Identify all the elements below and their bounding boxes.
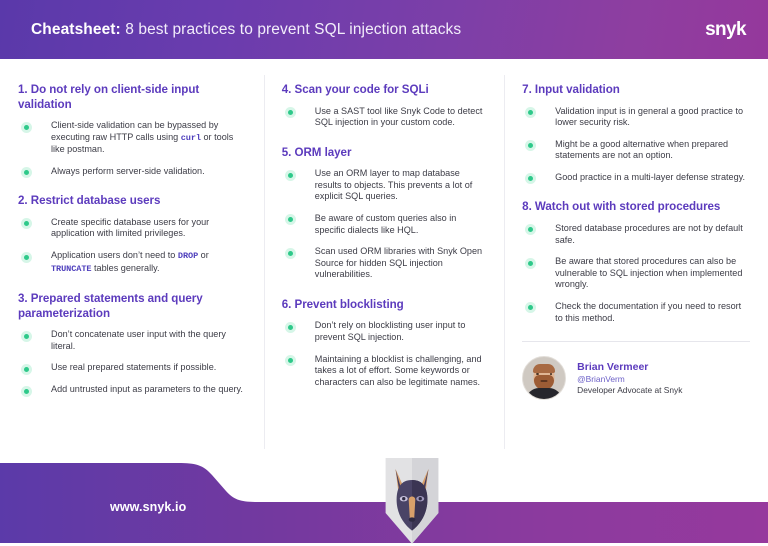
list-item: Don’t rely on blocklisting user input to… <box>282 320 488 343</box>
bullet-dot-icon <box>21 167 32 178</box>
page-title: Cheatsheet: 8 best practices to prevent … <box>31 21 461 39</box>
bullet-list: Use an ORM layer to map database results… <box>282 168 488 281</box>
list-item: Client-side validation can be bypassed b… <box>18 120 248 156</box>
bullet-text: Add untrusted input as parameters to the… <box>51 384 243 394</box>
bullet-dot-icon <box>285 170 296 181</box>
page-title-bold: Cheatsheet: <box>31 21 121 38</box>
list-item: Add untrusted input as parameters to the… <box>18 384 248 396</box>
bullet-list: Don’t rely on blocklisting user input to… <box>282 320 488 388</box>
bullet-text: Scan used ORM libraries with Snyk Open S… <box>315 246 482 279</box>
section-title: 3. Prepared statements and query paramet… <box>18 292 248 321</box>
bullet-text: Stored database procedures are not by de… <box>555 223 743 245</box>
section-3: 3. Prepared statements and query paramet… <box>18 292 248 395</box>
bullet-dot-icon <box>285 355 296 366</box>
author-name: Brian Vermeer <box>577 361 682 374</box>
author-handle[interactable]: @BrianVerm <box>577 374 682 385</box>
bullet-text: Might be a good alternative when prepare… <box>555 139 728 161</box>
bullet-dot-icon <box>525 140 536 151</box>
list-item: Might be a good alternative when prepare… <box>522 139 750 162</box>
list-item: Validation input is in general a good pr… <box>522 106 750 129</box>
author-block: Brian Vermeer @BrianVerm Developer Advoc… <box>522 341 750 400</box>
bullet-text: Don’t rely on blocklisting user input to… <box>315 320 466 342</box>
list-item: Be aware that stored procedures can also… <box>522 256 750 291</box>
section-title: 7. Input validation <box>522 83 750 98</box>
list-item: Check the documentation if you need to r… <box>522 301 750 324</box>
bullet-list: Use a SAST tool like Snyk Code to detect… <box>282 106 488 129</box>
section-title: 6. Prevent blocklisting <box>282 298 488 313</box>
column-3: 7. Input validation Validation input is … <box>504 83 750 459</box>
bullet-text-post: tables generally. <box>91 263 159 273</box>
bullet-dot-icon <box>285 248 296 259</box>
inline-code-drop: DROP <box>178 251 198 261</box>
bullet-text: Use real prepared statements if possible… <box>51 362 216 372</box>
avatar-mouth <box>541 380 548 382</box>
section-5: 5. ORM layer Use an ORM layer to map dat… <box>282 146 488 281</box>
bullet-text: Good practice in a multi-layer defense s… <box>555 172 745 182</box>
bullet-dot-icon <box>525 302 536 313</box>
section-2: 2. Restrict database users Create specif… <box>18 194 248 275</box>
list-item: Always perform server-side validation. <box>18 166 248 178</box>
list-item: Use real prepared statements if possible… <box>18 362 248 374</box>
section-title: 2. Restrict database users <box>18 194 248 209</box>
bullet-dot-icon <box>285 107 296 118</box>
section-title: 4. Scan your code for SQLi <box>282 83 488 98</box>
list-item: Maintaining a blocklist is challenging, … <box>282 354 488 389</box>
bullet-text-mid: or <box>198 250 209 260</box>
page-header: Cheatsheet: 8 best practices to prevent … <box>0 0 768 59</box>
cheatsheet-body: 1. Do not rely on client-side input vali… <box>0 59 768 459</box>
bullet-dot-icon <box>21 252 32 263</box>
section-title: 1. Do not rely on client-side input vali… <box>18 83 248 112</box>
bullet-text: Check the documentation if you need to r… <box>555 301 741 323</box>
list-item: Scan used ORM libraries with Snyk Open S… <box>282 246 488 281</box>
bullet-list: Stored database procedures are not by de… <box>522 223 750 324</box>
inline-code-truncate: TRUNCATE <box>51 264 91 274</box>
bullet-dot-icon <box>21 218 32 229</box>
author-meta: Brian Vermeer @BrianVerm Developer Advoc… <box>577 361 682 396</box>
bullet-dot-icon <box>21 331 32 342</box>
section-4: 4. Scan your code for SQLi Use a SAST to… <box>282 83 488 129</box>
section-7: 7. Input validation Validation input is … <box>522 83 750 183</box>
bullet-dot-icon <box>525 224 536 235</box>
column-1: 1. Do not rely on client-side input vali… <box>18 83 264 459</box>
section-title: 5. ORM layer <box>282 146 488 161</box>
bullet-dot-icon <box>21 122 32 133</box>
bullet-dot-icon <box>21 364 32 375</box>
bullet-list: Create specific database users for your … <box>18 217 248 275</box>
page-title-rest: 8 best practices to prevent SQL injectio… <box>121 21 461 38</box>
bullet-dot-icon <box>525 107 536 118</box>
list-item: Use a SAST tool like Snyk Code to detect… <box>282 106 488 129</box>
bullet-text: Use a SAST tool like Snyk Code to detect… <box>315 106 483 128</box>
list-item: Application users don’t need to DROP or … <box>18 250 248 275</box>
bullet-dot-icon <box>285 322 296 333</box>
author-role: Developer Advocate at Snyk <box>577 385 682 396</box>
list-item: Good practice in a multi-layer defense s… <box>522 172 750 184</box>
bullet-list: Validation input is in general a good pr… <box>522 106 750 184</box>
avatar <box>522 356 566 400</box>
section-8: 8. Watch out with stored procedures Stor… <box>522 200 750 324</box>
section-1: 1. Do not rely on client-side input vali… <box>18 83 248 177</box>
bullet-dot-icon <box>525 258 536 269</box>
bullet-text: Always perform server-side validation. <box>51 166 205 176</box>
section-6: 6. Prevent blocklisting Don’t rely on bl… <box>282 298 488 388</box>
list-item: Stored database procedures are not by de… <box>522 223 750 246</box>
bullet-text: Validation input is in general a good pr… <box>555 106 743 128</box>
bullet-text-pre: Application users don’t need to <box>51 250 178 260</box>
footer-url[interactable]: www.snyk.io <box>110 500 186 514</box>
avatar-hair <box>533 364 555 373</box>
bullet-text: Be aware that stored procedures can also… <box>555 256 742 289</box>
section-title: 8. Watch out with stored procedures <box>522 200 750 215</box>
avatar-eye-left <box>536 373 539 375</box>
list-item: Don’t concatenate user input with the qu… <box>18 329 248 352</box>
bullet-text: Don’t concatenate user input with the qu… <box>51 329 226 351</box>
bullet-list: Don’t concatenate user input with the qu… <box>18 329 248 395</box>
avatar-shirt <box>526 388 562 400</box>
bullet-list: Client-side validation can be bypassed b… <box>18 120 248 177</box>
column-2: 4. Scan your code for SQLi Use a SAST to… <box>264 83 504 459</box>
page-footer: www.snyk.io <box>0 455 768 543</box>
list-item: Be aware of custom queries also in speci… <box>282 213 488 236</box>
bullet-text: Maintaining a blocklist is challenging, … <box>315 354 482 387</box>
bullet-dot-icon <box>525 173 536 184</box>
list-item: Use an ORM layer to map database results… <box>282 168 488 203</box>
bullet-dot-icon <box>285 214 296 225</box>
bullet-dot-icon <box>21 386 32 397</box>
list-item: Create specific database users for your … <box>18 217 248 240</box>
bullet-text: Use an ORM layer to map database results… <box>315 168 473 201</box>
inline-code: curl <box>181 133 201 143</box>
snyk-logo: snyk <box>705 19 746 41</box>
bullet-text: Be aware of custom queries also in speci… <box>315 213 457 235</box>
bullet-text: Create specific database users for your … <box>51 217 209 239</box>
